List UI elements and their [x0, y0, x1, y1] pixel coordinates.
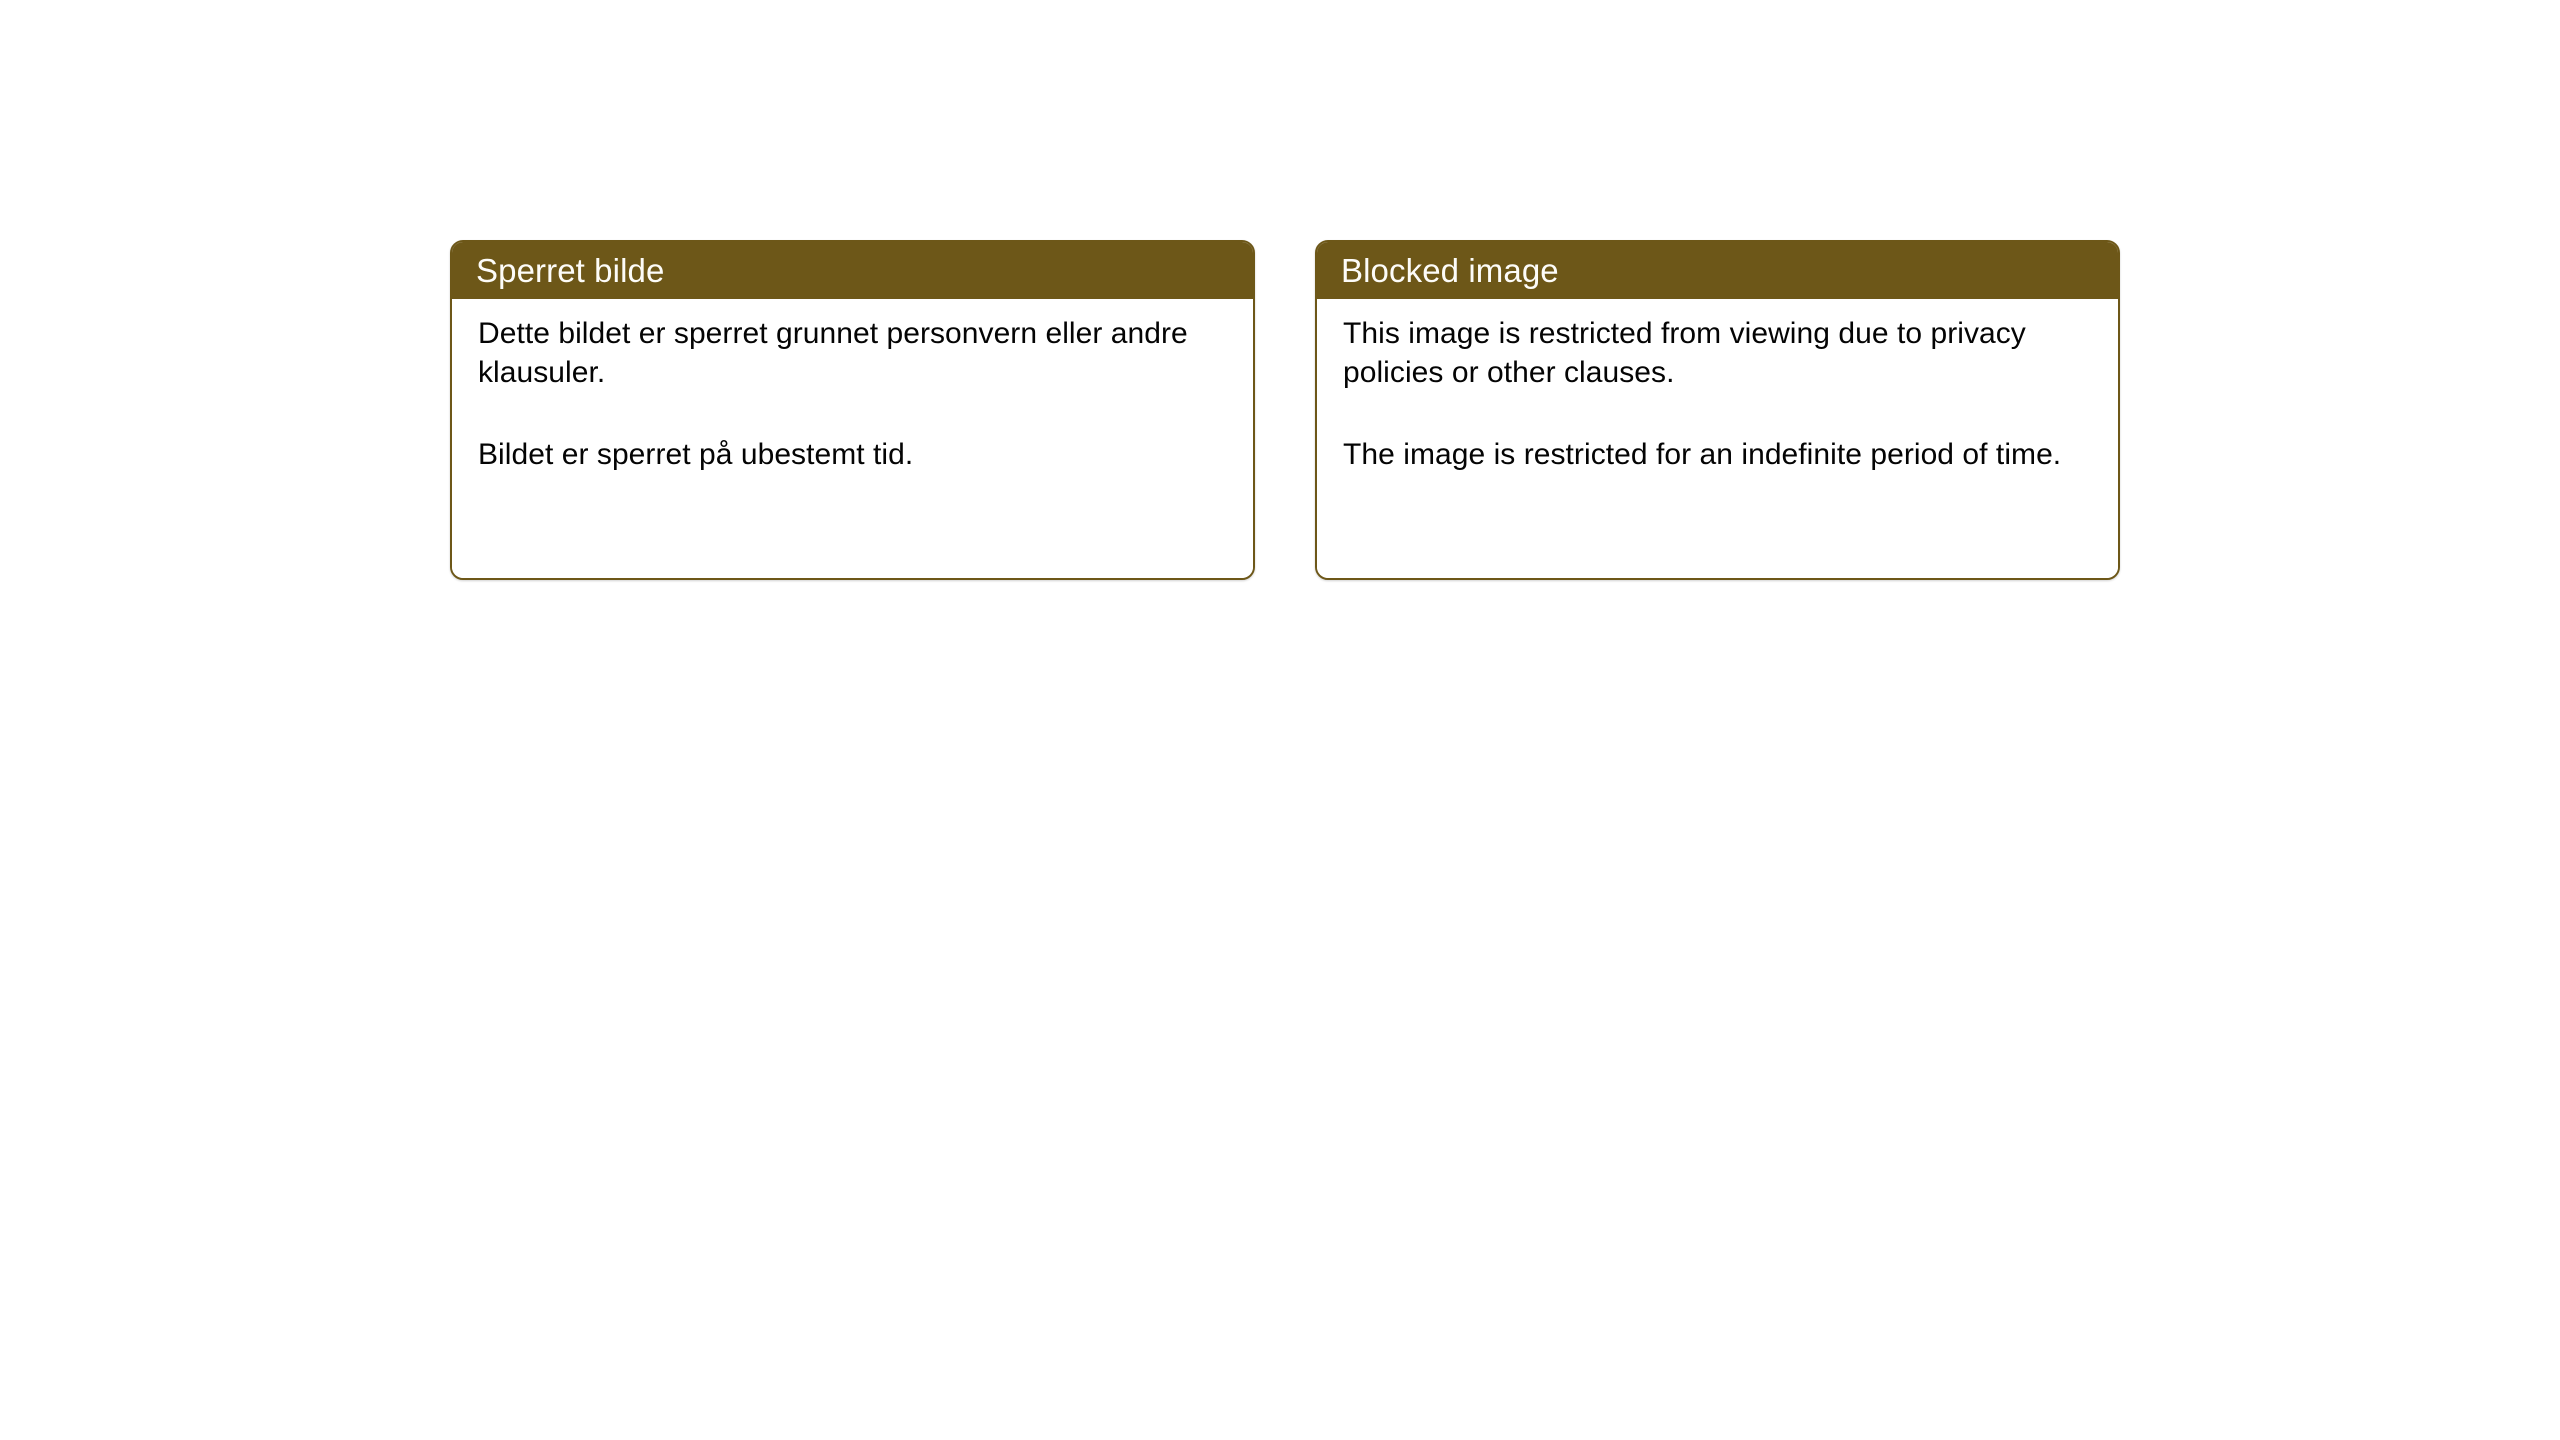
card-header-english: Blocked image [1317, 242, 2118, 299]
card-title-norwegian: Sperret bilde [476, 254, 664, 287]
card-paragraph-primary-norwegian: Dette bildet er sperret grunnet personve… [478, 315, 1227, 392]
card-paragraph-primary-english: This image is restricted from viewing du… [1343, 315, 2092, 392]
blocked-image-card-english: Blocked image This image is restricted f… [1315, 240, 2120, 580]
card-body-english: This image is restricted from viewing du… [1317, 299, 2118, 578]
card-title-english: Blocked image [1341, 254, 1559, 287]
card-header-norwegian: Sperret bilde [452, 242, 1253, 299]
card-paragraph-secondary-norwegian: Bildet er sperret på ubestemt tid. [478, 436, 1227, 475]
blocked-image-card-norwegian: Sperret bilde Dette bildet er sperret gr… [450, 240, 1255, 580]
card-paragraph-secondary-english: The image is restricted for an indefinit… [1343, 436, 2092, 475]
blocked-image-notices: Sperret bilde Dette bildet er sperret gr… [450, 240, 2120, 580]
card-body-norwegian: Dette bildet er sperret grunnet personve… [452, 299, 1253, 578]
